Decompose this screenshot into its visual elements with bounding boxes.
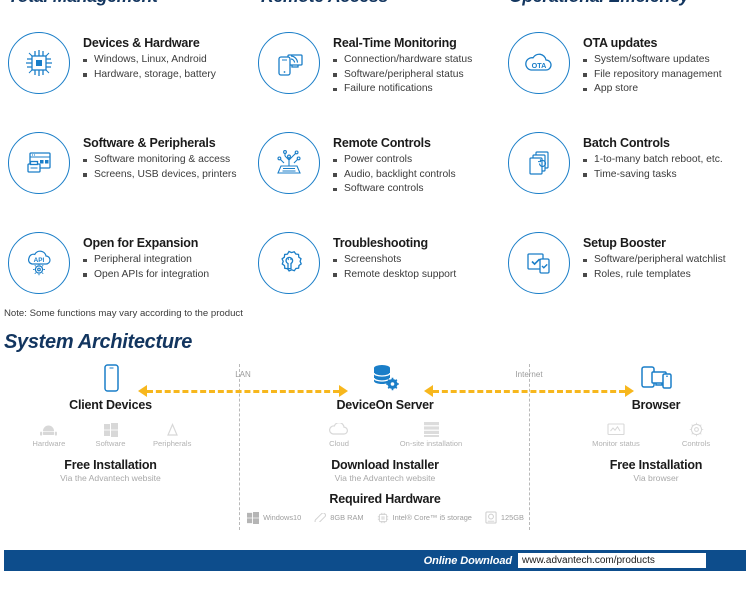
feature-title: Software & Peripherals: [83, 136, 237, 150]
feature-title: Batch Controls: [583, 136, 723, 150]
feature-bullets: Windows, Linux, Android Hardware, storag…: [83, 53, 216, 82]
arrow-head-left-icon: [424, 385, 433, 397]
feature-bullet: Software/peripheral status: [333, 68, 472, 83]
feature-bullets: Connection/hardware status Software/peri…: [333, 53, 472, 97]
feature-title: Setup Booster: [583, 236, 726, 250]
feature-text: Open for Expansion Peripheral integratio…: [83, 230, 209, 282]
api-cloud-gear-icon: API: [8, 232, 70, 294]
sub-icon-label: Software: [80, 439, 142, 448]
sub-icon-cloud: Cloud: [293, 421, 385, 448]
feature-setup-booster: Setup Booster Software/peripheral watchl…: [500, 230, 750, 330]
hardware-item-label: Windows10: [263, 513, 301, 522]
feature-software-peripherals: Software & Peripherals Software monitori…: [0, 130, 250, 230]
gear-wrench-icon: [258, 232, 320, 294]
hardware-item-ram: 8GB RAM: [313, 511, 363, 524]
feature-title: Troubleshooting: [333, 236, 456, 250]
feature-ota-updates: OTA OTA updates System/software updates …: [500, 30, 750, 130]
hardware-item-cpu: Intel® Core™ i5 storage: [376, 511, 472, 524]
sub-icon-label: Cloud: [293, 439, 385, 448]
feature-bullet: Connection/hardware status: [333, 53, 472, 68]
hardware-item-label: Intel® Core™ i5 storage: [393, 513, 472, 522]
sub-icon-monitor-status: Monitor status: [576, 421, 656, 448]
monitoring-devices-icon: [258, 32, 320, 94]
feature-text: Devices & Hardware Windows, Linux, Andro…: [83, 30, 216, 82]
client-sub-icons: Hardware Software: [18, 421, 203, 448]
node-deviceon-server: DeviceOn Server Cloud: [240, 362, 530, 483]
online-download-bar: Online Download www.advantech.com/produc…: [4, 550, 746, 571]
feature-text: Real-Time Monitoring Connection/hardware…: [333, 30, 472, 97]
software-printer-icon: [8, 132, 70, 194]
sub-icon-label: On-site installation: [385, 439, 477, 448]
feature-text: Software & Peripherals Software monitori…: [83, 130, 237, 182]
sub-icon-label: Hardware: [18, 439, 80, 448]
feature-bullet: Power controls: [333, 153, 456, 168]
sub-icon-onsite-installation: On-site installation: [385, 421, 477, 448]
server-rack-icon: [385, 421, 477, 438]
cta-subtitle: Via the Advantech website: [18, 473, 203, 483]
feature-bullets: Power controls Audio, backlight controls…: [333, 153, 456, 197]
feature-bullet: Failure notifications: [333, 82, 472, 97]
circuit-keyboard-icon: [258, 132, 320, 194]
feature-title: Devices & Hardware: [83, 36, 216, 50]
ota-cloud-icon: OTA: [508, 32, 570, 94]
feature-bullet: App store: [583, 82, 722, 97]
feature-text: Setup Booster Software/peripheral watchl…: [583, 230, 726, 282]
sub-icon-peripherals: Peripherals: [141, 421, 203, 448]
feature-bullet: Screenshots: [333, 253, 456, 268]
feature-bullet: Remote desktop support: [333, 268, 456, 283]
svg-text:OTA: OTA: [532, 61, 547, 70]
checklist-devices-icon: [508, 232, 570, 294]
svg-text:API: API: [34, 257, 45, 264]
column-header-total-management: Total Management: [0, 0, 250, 8]
required-hardware-list: Windows10 8GB RAM: [240, 511, 530, 524]
feature-bullet: File repository management: [583, 68, 722, 83]
hardware-item-os: Windows10: [246, 511, 301, 524]
cta-title: Free Installation: [18, 458, 203, 472]
architecture-diagram: Client Devices Hardware: [0, 362, 750, 537]
feature-title: Remote Controls: [333, 136, 456, 150]
feature-bullet: Open APIs for integration: [83, 268, 209, 283]
client-cta: Free Installation Via the Advantech webs…: [18, 458, 203, 483]
feature-bullet: Windows, Linux, Android: [83, 53, 216, 68]
feature-bullet: Software monitoring & access: [83, 153, 237, 168]
feature-grid: Devices & Hardware Windows, Linux, Andro…: [0, 30, 750, 330]
windows-icon: [80, 421, 142, 438]
feature-bullets: Software monitoring & access Screens, US…: [83, 153, 237, 182]
feature-text: Troubleshooting Screenshots Remote deskt…: [333, 230, 456, 282]
feature-bullets: Software/peripheral watchlist Roles, rul…: [583, 253, 726, 282]
sub-icon-software: Software: [80, 421, 142, 448]
browser-sub-icons: Monitor status Controls: [566, 421, 746, 448]
stacked-pages-refresh-icon: [508, 132, 570, 194]
sub-icon-label: Controls: [656, 439, 736, 448]
browser-cta: Free Installation Via browser: [566, 458, 746, 483]
feature-text: Batch Controls 1-to-many batch reboot, e…: [583, 130, 723, 182]
required-hardware-title: Required Hardware: [240, 492, 530, 506]
feature-bullets: System/software updates File repository …: [583, 53, 722, 97]
required-hardware-block: Required Hardware Windows10: [240, 492, 530, 524]
footnote-note: Note: Some functions may vary according …: [4, 308, 243, 319]
feature-bullet: Time-saving tasks: [583, 168, 723, 183]
feature-batch-controls: Batch Controls 1-to-many batch reboot, e…: [500, 130, 750, 230]
feature-bullet: Screens, USB devices, printers: [83, 168, 237, 183]
cta-title: Free Installation: [566, 458, 746, 472]
feature-troubleshooting: Troubleshooting Screenshots Remote deskt…: [250, 230, 500, 330]
feature-title: OTA updates: [583, 36, 722, 50]
feature-bullets: 1-to-many batch reboot, etc. Time-saving…: [583, 153, 723, 182]
cpu-icon: [376, 511, 390, 524]
hardware-item-label: 125GB: [501, 513, 524, 522]
column-header-remote-access: Remote Access: [250, 0, 500, 8]
feature-real-time-monitoring: Real-Time Monitoring Connection/hardware…: [250, 30, 500, 130]
feature-bullet: Peripheral integration: [83, 253, 209, 268]
node-name: Client Devices: [18, 398, 203, 412]
controls-gear-icon: [656, 421, 736, 438]
node-client-devices: Client Devices Hardware: [18, 362, 203, 483]
windows-icon: [246, 511, 260, 524]
feature-bullet: Software controls: [333, 182, 456, 197]
hdd-icon: [484, 511, 498, 524]
feature-remote-controls: Remote Controls Power controls Audio, ba…: [250, 130, 500, 230]
feature-bullet: Roles, rule templates: [583, 268, 726, 283]
monitor-status-icon: [576, 421, 656, 438]
cta-title: Download Installer: [240, 458, 530, 472]
node-name: Browser: [566, 398, 746, 412]
online-download-label: Online Download: [424, 555, 512, 567]
hardware-item-storage: 125GB: [484, 511, 524, 524]
online-download-url[interactable]: www.advantech.com/products: [518, 553, 706, 568]
node-browser: Browser Monitor status: [566, 362, 746, 483]
feature-bullet: Hardware, storage, battery: [83, 68, 216, 83]
android-icon: [18, 421, 80, 438]
section-title-system-architecture: System Architecture: [4, 331, 192, 354]
arrow-head-left-icon: [138, 385, 147, 397]
feature-title: Real-Time Monitoring: [333, 36, 472, 50]
feature-bullet: 1-to-many batch reboot, etc.: [583, 153, 723, 168]
cloud-icon: [293, 421, 385, 438]
sub-icon-label: Peripherals: [141, 439, 203, 448]
feature-bullet: Software/peripheral watchlist: [583, 253, 726, 268]
feature-devices-hardware: Devices & Hardware Windows, Linux, Andro…: [0, 30, 250, 130]
server-cta: Download Installer Via the Advantech web…: [240, 458, 530, 483]
deviceon-product-sheet: Total Management Remote Access Operation…: [0, 0, 750, 591]
sub-icon-controls: Controls: [656, 421, 736, 448]
feature-text: Remote Controls Power controls Audio, ba…: [333, 130, 456, 197]
hardware-item-label: 8GB RAM: [330, 513, 363, 522]
feature-bullets: Screenshots Remote desktop support: [333, 253, 456, 282]
feature-title: Open for Expansion: [83, 236, 209, 250]
browser-devices-icon: [566, 362, 746, 396]
ram-icon: [313, 511, 327, 524]
cta-subtitle: Via browser: [566, 473, 746, 483]
chip-icon: [8, 32, 70, 94]
feature-bullets: Peripheral integration Open APIs for int…: [83, 253, 209, 282]
server-sub-icons: Cloud On-site installation: [240, 421, 530, 448]
node-name: DeviceOn Server: [240, 398, 530, 412]
feature-bullet: System/software updates: [583, 53, 722, 68]
column-header-operational-efficiency: Operational Efficiency: [500, 0, 750, 8]
sub-icon-label: Monitor status: [576, 439, 656, 448]
cta-subtitle: Via the Advantech website: [240, 473, 530, 483]
column-headers: Total Management Remote Access Operation…: [0, 0, 750, 8]
peripherals-icon: [141, 421, 203, 438]
sub-icon-hardware: Hardware: [18, 421, 80, 448]
feature-bullet: Audio, backlight controls: [333, 168, 456, 183]
feature-text: OTA updates System/software updates File…: [583, 30, 722, 97]
